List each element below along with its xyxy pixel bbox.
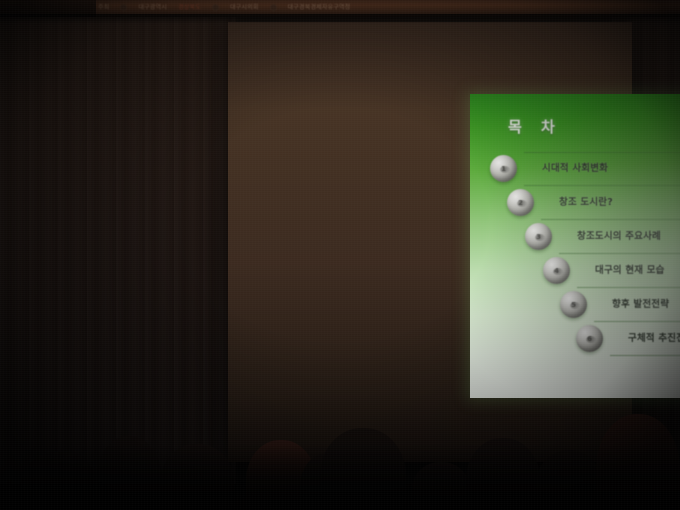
sphere-bullet-icon: 4 <box>543 257 570 284</box>
banner-mark-icon <box>270 4 277 11</box>
agenda-item-1: 1 시대적 사회변화 <box>490 152 680 186</box>
bullet-index-3: 3 <box>525 223 552 250</box>
banner-mark-icon <box>120 4 127 11</box>
agenda-list: 1 시대적 사회변화 2 창조 도시란? 3 <box>470 152 680 388</box>
banner-logo-row: 주최 대구광역시 경상북도 대구시의회 대구경북경제자유구역청 <box>98 1 618 14</box>
bullet-index-6: 6 <box>576 325 603 352</box>
banner-logo-3: 대구시의회 <box>230 5 259 11</box>
audience-head <box>412 462 470 510</box>
bullet-index-4: 4 <box>543 257 570 284</box>
banner-logo-4: 대구경북경제자유구역청 <box>288 5 351 11</box>
agenda-label-6: 구체적 추진전략(창조도시 만들기) <box>628 330 680 344</box>
projection-screen: 목 차 1 시대적 사회변화 2 창조 도시란? <box>228 22 632 462</box>
sphere-bullet-icon: 2 <box>507 189 534 216</box>
agenda-label-5: 향후 발전전략 <box>612 296 669 310</box>
bullet-index-5: 5 <box>560 291 587 318</box>
agenda-item-4: 4 대구의 현재 모습 <box>543 254 680 288</box>
banner-mark-icon <box>212 4 219 11</box>
banner-drop-shadow <box>0 14 680 24</box>
agenda-rule-bottom <box>610 355 680 356</box>
agenda-label-3: 창조도시의 주요사례 <box>577 228 661 242</box>
bullet-index-1: 1 <box>490 155 517 182</box>
banner-logo-2: 경상북도 <box>178 5 201 11</box>
stage-curtain-left <box>0 14 236 484</box>
banner-logo-1: 대구광역시 <box>138 5 167 11</box>
sphere-bullet-icon: 3 <box>525 223 552 250</box>
agenda-rule-top <box>524 152 680 153</box>
agenda-item-6: 6 구체적 추진전략(창조도시 만들기) <box>576 322 680 356</box>
agenda-label-2: 창조 도시란? <box>559 194 613 208</box>
sphere-bullet-icon: 1 <box>490 155 517 182</box>
agenda-item-5: 5 향후 발전전략 <box>560 288 680 322</box>
bullet-index-2: 2 <box>507 189 534 216</box>
banner-logo-0: 주최 <box>98 5 109 11</box>
agenda-item-2: 2 창조 도시란? <box>507 186 680 220</box>
agenda-label-4: 대구의 현재 모습 <box>595 262 665 276</box>
slide-title: 목 차 <box>508 116 562 137</box>
agenda-item-3: 3 창조도시의 주요사례 <box>525 220 680 254</box>
agenda-label-1: 시대적 사회변화 <box>542 160 608 174</box>
sphere-bullet-icon: 5 <box>560 291 587 318</box>
auditorium-photo: 목 차 1 시대적 사회변화 2 창조 도시란? <box>0 0 680 510</box>
sphere-bullet-icon: 6 <box>576 325 603 352</box>
presentation-slide: 목 차 1 시대적 사회변화 2 창조 도시란? <box>470 94 680 398</box>
